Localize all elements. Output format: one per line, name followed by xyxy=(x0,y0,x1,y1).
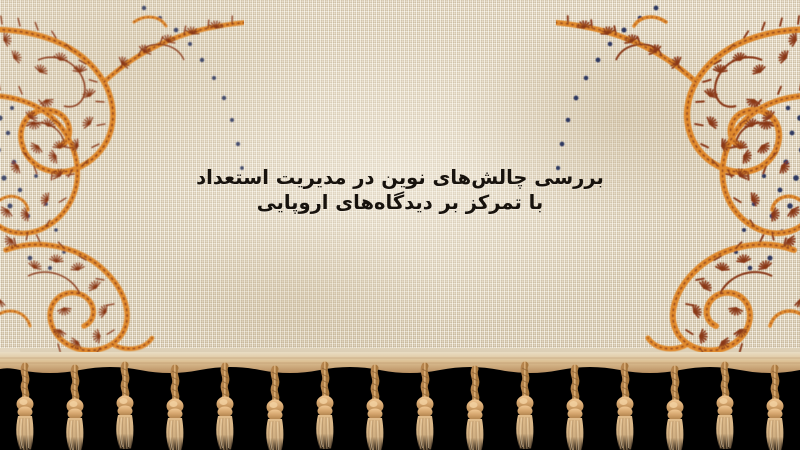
title-slide: بررسی چالش‌های نوین در مدیریت استعداد با… xyxy=(0,0,800,450)
title-line-1: بررسی چالش‌های نوین در مدیریت استعداد xyxy=(0,166,800,191)
knotted-tassel-fringe xyxy=(0,352,800,450)
title-line-2: با تمرکز بر دیدگاه‌های اروپایی xyxy=(0,191,800,216)
presentation-title: بررسی چالش‌های نوین در مدیریت استعداد با… xyxy=(0,166,800,216)
